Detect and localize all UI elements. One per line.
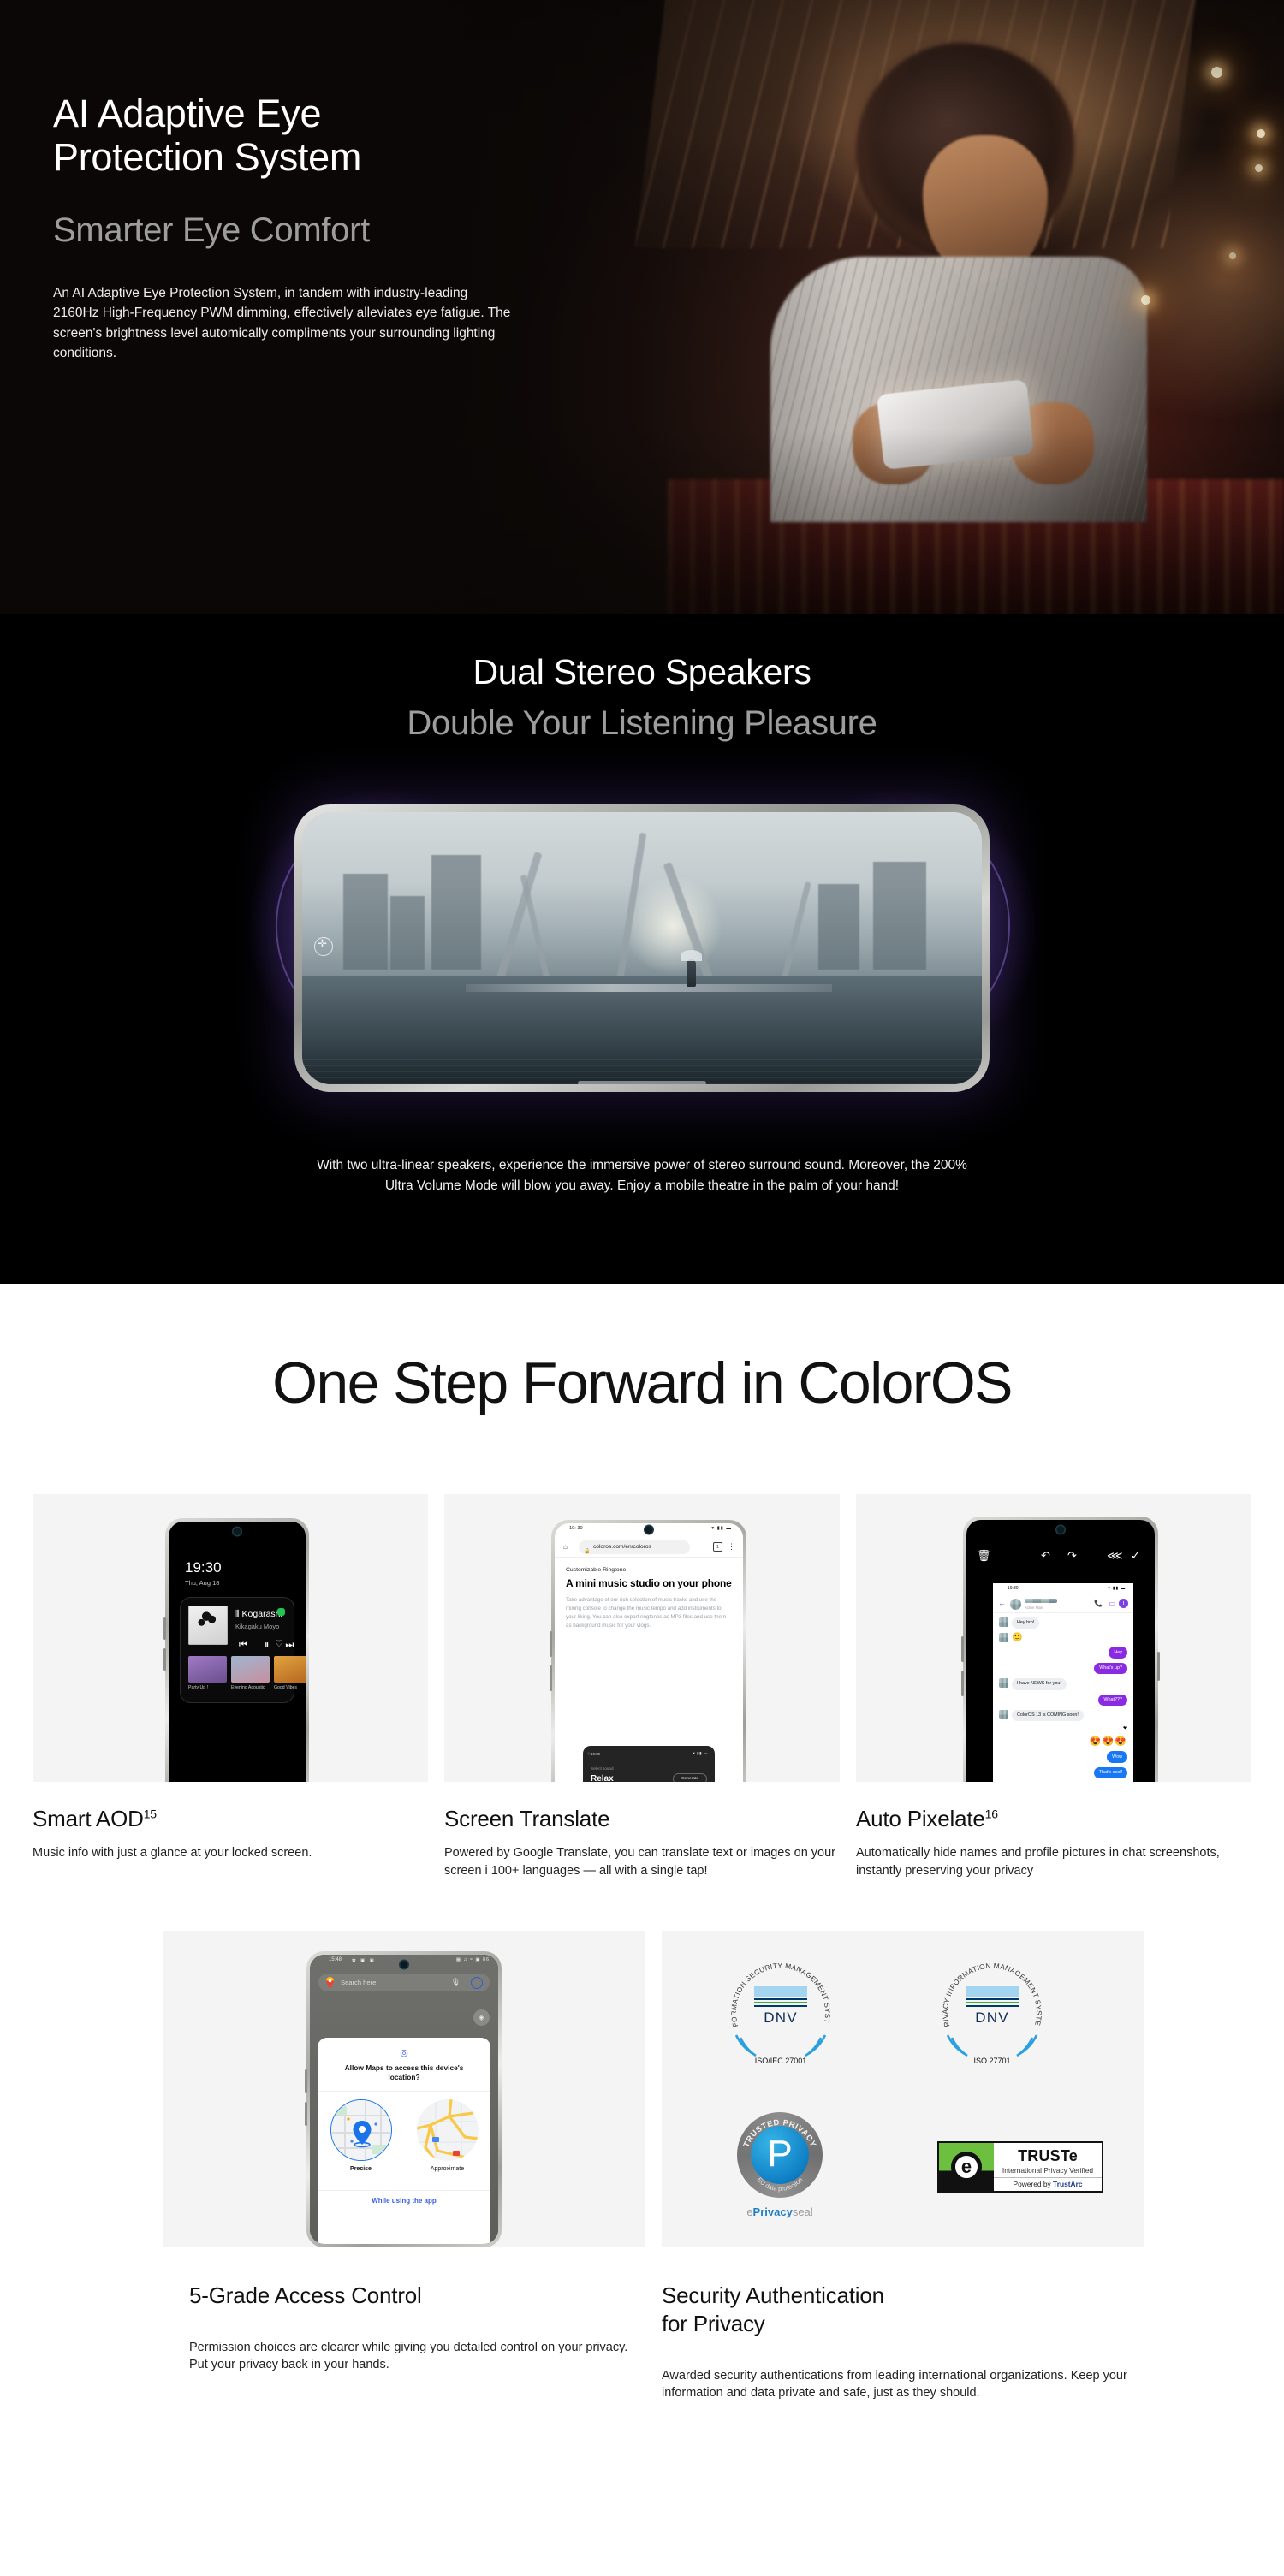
pixelated-contact-name	[1025, 1599, 1057, 1603]
status-time: 19: 30	[569, 1526, 583, 1531]
powered-brand: TrustArc	[1053, 2180, 1082, 2188]
option-label: Precise	[329, 2166, 394, 2172]
aod-date: Thu, Aug 18	[185, 1579, 219, 1587]
pause-icon[interactable]: ⏸	[264, 1638, 270, 1652]
chat-row: Wow	[999, 1751, 1127, 1762]
playlist-label: Party Up !	[188, 1685, 227, 1691]
permission-dialog: ◎ Allow Maps to access this device's loc…	[318, 2038, 490, 2244]
song-title-text: Kogarashi	[242, 1609, 282, 1619]
access-control-screenshot: 15:48 ✿ ▣ ▣ ▦ ♫ ≈ ▣ 86 Search h	[163, 1931, 645, 2247]
avatar	[999, 1633, 1008, 1642]
permission-option-approximate[interactable]: Approximate	[415, 2099, 480, 2172]
playlist-label: Evening Acoustic	[231, 1685, 270, 1691]
feature-card-auto-pixelate: 🗑 ↶ ↷ ⋘ ✓ 19:30 ▾ ▮▮ ▬	[856, 1494, 1251, 1879]
account-avatar-icon[interactable]	[471, 1977, 483, 1989]
chat-bubble: Wow	[1107, 1751, 1127, 1762]
permission-dialog-title: Allow Maps to access this device's locat…	[333, 2063, 475, 2082]
lock-icon: 🔒	[584, 1545, 590, 1558]
dnv-logo: DNV	[754, 1986, 807, 2027]
truste-e-icon: e	[951, 2152, 982, 2182]
url-text: coloros.com/en/coloros	[593, 1544, 651, 1550]
truste-badge-graphic: e TRUSTe International Privacy Verified …	[937, 2141, 1103, 2193]
eye-protection-body: An AI Adaptive Eye Protection System, in…	[53, 283, 515, 364]
seal-letter: P	[751, 2135, 809, 2173]
chat-bubble: What's up?	[1094, 1663, 1127, 1674]
powered-prefix: Powered by	[1013, 2180, 1053, 2188]
eye-protection-subheading: Smarter Eye Comfort	[53, 211, 584, 249]
home-indicator	[578, 1081, 706, 1084]
dnv-logo: DNV	[966, 1986, 1019, 2027]
playlist-thumbnail	[231, 1656, 270, 1683]
inner-status-icons: ▾ ▮▮ ▬	[693, 1751, 708, 1756]
iso-standard-label: ISO/IEC 27001	[755, 2057, 807, 2065]
chat-bubble: ColorOS 13 is COMING soon!	[1012, 1710, 1084, 1721]
song-title: ⦀ Kogarashi	[235, 1609, 282, 1620]
game-platform	[466, 984, 833, 992]
badge-eprivacyseal: TRUSTED PRIVACY EU data protection P	[737, 2112, 823, 2218]
stereo-speakers-section: Dual Stereo Speakers Double Your Listeni…	[0, 614, 1284, 1284]
phone-frame: 19: 30 ▾ ▮▮ ▬ ⌂ 🔒 coloros.com/en/coloros	[551, 1520, 746, 1782]
web-page-content: Customizable Ringtone A mini music studi…	[555, 1558, 743, 1782]
chat-message-list: Hey bro! 🙂 Hey What's up? I have NEWS fo…	[993, 1613, 1133, 1782]
game-water	[302, 976, 982, 1084]
label-prefix: e	[746, 2205, 752, 2218]
footnote-marker: 15	[144, 1807, 157, 1820]
speakers-subheading: Double Your Listening Pleasure	[0, 704, 1284, 743]
eye-protection-copy: AI Adaptive Eye Protection System Smarte…	[53, 92, 584, 364]
undo-icon[interactable]: ↶	[1041, 1549, 1050, 1563]
security-badges-panel: INFORMATION SECURITY MANAGEMENT SYSTEM	[662, 1931, 1144, 2247]
coloros-section: One Step Forward in ColorOS 19:30 Thu, A…	[0, 1284, 1284, 2411]
favorite-icon[interactable]: ♡	[275, 1638, 283, 1649]
phone-frame: 19:30 Thu, Aug 18 ⦀ Kogarashi Kikagaku M…	[165, 1518, 309, 1782]
chat-row: ❤	[999, 1725, 1127, 1731]
playlist-label: Good Vibes	[274, 1685, 306, 1691]
chat-bubble: Hey bro!	[1012, 1617, 1039, 1629]
playlist-item[interactable]: Good Vibes	[274, 1656, 306, 1691]
card-title: Smart AOD15	[33, 1806, 428, 1832]
chat-emoji: 😍😍😍	[1090, 1736, 1127, 1747]
chat-row: Hey	[999, 1647, 1127, 1658]
select-sound-label: Select sound :	[591, 1766, 615, 1771]
playback-controls[interactable]: ⏮ ⏸ ⏭	[239, 1638, 294, 1652]
playlist-thumbnail	[188, 1656, 227, 1683]
power-button[interactable]	[305, 2102, 307, 2126]
address-bar[interactable]: 🔒 coloros.com/en/coloros	[579, 1540, 690, 1554]
avatar	[1010, 1599, 1021, 1610]
map-search-bar[interactable]: Search here 🎙	[318, 1974, 490, 1991]
screen-translate-screenshot: 19: 30 ▾ ▮▮ ▬ ⌂ 🔒 coloros.com/en/coloros	[444, 1494, 840, 1782]
chat-status-bar: 19:30 ▾ ▮▮ ▬	[993, 1583, 1133, 1594]
card-title: Screen Translate	[444, 1806, 840, 1832]
label-suffix: seal	[793, 2205, 813, 2218]
chat-bubble: That's cool!	[1094, 1767, 1127, 1778]
previous-track-icon[interactable]: ⏮	[239, 1640, 247, 1651]
truste-powered-by: Powered by TrustArc	[994, 2177, 1102, 2188]
share-icon[interactable]: ⋘	[1107, 1549, 1123, 1563]
inner-status-time: 19:30	[591, 1752, 600, 1756]
speakers-body: With two ultra-linear speakers, experien…	[308, 1155, 976, 1196]
album-art	[188, 1606, 228, 1645]
volume-button[interactable]	[550, 1631, 552, 1657]
avatar	[999, 1617, 1008, 1627]
dnv-bars-icon	[754, 1986, 807, 2007]
chat-row: 😍😍😍	[999, 1736, 1127, 1747]
chat-row: I have NEWS for you!	[999, 1678, 1127, 1689]
chat-screenshot: 19:30 ▾ ▮▮ ▬ ← Active Now 📞 ▭	[993, 1583, 1133, 1782]
search-placeholder: Search here	[341, 1979, 376, 1986]
chat-header: ← Active Now 📞 ▭ i	[993, 1594, 1133, 1613]
game-building	[818, 884, 859, 970]
volume-button[interactable]	[163, 1617, 166, 1640]
power-button[interactable]	[1157, 1652, 1160, 1681]
truste-title: TRUSTe	[994, 2147, 1102, 2165]
playlist-thumbnail	[274, 1656, 306, 1683]
avatar	[999, 1678, 1008, 1688]
video-call-icon[interactable]: ▭	[1109, 1600, 1115, 1607]
landscape-phone-mockup	[294, 804, 990, 1092]
phone-screen: 19: 30 ▾ ▮▮ ▬ ⌂ 🔒 coloros.com/en/coloros	[555, 1523, 743, 1782]
page-headline: A mini music studio on your phone	[566, 1577, 732, 1589]
confirm-icon[interactable]: ✓	[1131, 1549, 1140, 1563]
feature-card-smart-aod: 19:30 Thu, Aug 18 ⦀ Kogarashi Kikagaku M…	[33, 1494, 428, 1879]
phone-screen: 19:30 Thu, Aug 18 ⦀ Kogarashi Kikagaku M…	[169, 1522, 306, 1782]
while-using-app-button[interactable]: While using the app	[318, 2197, 490, 2205]
status-bar: 19: 30 ▾ ▮▮ ▬	[555, 1523, 743, 1537]
browser-toolbar: ⌂ 🔒 coloros.com/en/coloros 1 ⋮	[555, 1537, 743, 1558]
status-right-icons: ▦ ♫ ≈ ▣ 86	[456, 1957, 490, 1962]
card-description: Permission choices are clearer while giv…	[163, 2339, 645, 2374]
camera-punch-hole-icon	[234, 1528, 241, 1535]
selected-sound-value: Relax	[591, 1774, 614, 1782]
card-description: Automatically hide names and profile pic…	[856, 1844, 1251, 1879]
badge-dnv-iso27701: PRIVACY INFORMATION MANAGEMENT SYSTEM	[936, 1958, 1049, 2071]
eprivacy-label: ePrivacyseal	[737, 2205, 823, 2218]
card-title-text: Auto Pixelate	[856, 1806, 985, 1831]
location-pin-icon: ◎	[400, 2047, 408, 2058]
redo-icon[interactable]: ↷	[1067, 1549, 1077, 1563]
phone-screen: 🗑 ↶ ↷ ⋘ ✓ 19:30 ▾ ▮▮ ▬	[966, 1520, 1155, 1782]
active-status: Active Now	[1025, 1606, 1043, 1610]
card-title-text: Screen Translate	[444, 1806, 609, 1831]
volume-button[interactable]	[961, 1636, 964, 1662]
footnote-marker: 16	[985, 1807, 998, 1820]
generate-button[interactable]: Generate	[673, 1773, 707, 1782]
volume-button[interactable]	[305, 2069, 307, 2093]
aod-clock: 19:30	[185, 1559, 222, 1576]
info-icon[interactable]: i	[1119, 1599, 1128, 1608]
volume-down-button[interactable]	[961, 1671, 964, 1696]
camera-punch-hole-icon	[1057, 1526, 1065, 1534]
game-screen	[302, 812, 982, 1084]
coloros-card-row-2: 15:48 ✿ ▣ ▣ ▦ ♫ ≈ ▣ 86 Search h	[0, 1879, 1284, 2402]
phone-frame: 15:48 ✿ ▣ ▣ ▦ ♫ ≈ ▣ 86 Search h	[306, 1951, 502, 2247]
option-label: Approximate	[415, 2166, 480, 2172]
equalizer-icon: ⦀	[235, 1609, 240, 1619]
truste-subtitle: International Privacy Verified	[994, 2166, 1102, 2175]
card-title: Security Authentication for Privacy	[662, 2282, 1144, 2338]
permission-option-precise[interactable]: Precise	[329, 2099, 394, 2172]
eprivacy-seal-graphic: TRUSTED PRIVACY EU data protection P	[737, 2112, 823, 2198]
approximate-map-thumbnail	[417, 2099, 479, 2161]
game-character	[687, 959, 696, 987]
speakers-heading: Dual Stereo Speakers	[0, 614, 1284, 692]
card-description: Powered by Google Translate, you can tra…	[444, 1844, 840, 1879]
playlist-strip: Party Up ! Evening Acoustic Good Vibes	[188, 1656, 286, 1691]
auto-pixelate-screenshot: 🗑 ↶ ↷ ⋘ ✓ 19:30 ▾ ▮▮ ▬	[856, 1494, 1251, 1782]
card-description: Music info with just a glance at your lo…	[33, 1844, 428, 1862]
speakers-stage	[0, 767, 1284, 1126]
page-kicker: Customizable Ringtone	[566, 1567, 732, 1573]
now-playing-indicator-icon	[277, 1608, 285, 1616]
power-button[interactable]	[163, 1648, 166, 1671]
chat-emoji: 🙂	[1012, 1633, 1022, 1642]
eye-protection-heading: AI Adaptive Eye Protection System	[53, 92, 584, 180]
product-landing-page: AI Adaptive Eye Protection System Smarte…	[0, 0, 1284, 2576]
eye-protection-section: AI Adaptive Eye Protection System Smarte…	[0, 0, 1284, 614]
feature-card-screen-translate: 19: 30 ▾ ▮▮ ▬ ⌂ 🔒 coloros.com/en/coloros	[444, 1494, 840, 1879]
game-building	[873, 862, 926, 970]
label-brand: Privacy	[753, 2205, 793, 2218]
phone-frame: 🗑 ↶ ↷ ⋘ ✓ 19:30 ▾ ▮▮ ▬	[963, 1517, 1158, 1782]
inline-phone-preview: 19:30 ▾ ▮▮ ▬ Select sound : Relax Genera…	[583, 1746, 715, 1782]
badge-dnv-iso27001: INFORMATION SECURITY MANAGEMENT SYSTEM	[724, 1958, 837, 2071]
seal-inner-disc: P	[751, 2126, 809, 2184]
microphone-icon[interactable]: 🎙	[451, 1978, 461, 1987]
dnv-brand: DNV	[966, 2009, 1019, 2027]
card-title: 5-Grade Access Control	[163, 2282, 645, 2310]
chat-bubble: What???	[1098, 1695, 1127, 1706]
call-icon[interactable]: 📞	[1094, 1600, 1103, 1607]
divider	[318, 2190, 490, 2191]
page-paragraph: Take advantage of our rich selection of …	[566, 1596, 732, 1630]
chat-row: Hey bro!	[999, 1617, 1127, 1629]
card-description: Awarded security authentications from le…	[662, 2367, 1144, 2402]
card-title: Auto Pixelate16	[856, 1806, 1251, 1832]
status-bar: 15:48 ✿ ▣ ▣ ▦ ♫ ≈ ▣ 86	[310, 1955, 498, 1968]
coloros-title: One Step Forward in ColorOS	[0, 1284, 1284, 1412]
playlist-item[interactable]: Evening Acoustic	[231, 1656, 270, 1691]
game-building	[343, 874, 388, 970]
back-icon[interactable]: ←	[998, 1599, 1006, 1607]
next-track-icon[interactable]: ⏭	[285, 1640, 294, 1651]
chat-row: 🙂	[999, 1633, 1127, 1642]
iso-standard-label: ISO 27701	[973, 2057, 1010, 2065]
playlist-item[interactable]: Party Up !	[188, 1656, 227, 1691]
chat-row: What???	[999, 1695, 1127, 1706]
artist-name: Kikagaku Moyo	[235, 1623, 279, 1630]
avatar	[999, 1710, 1008, 1719]
editor-toolbar: 🗑 ↶ ↷ ⋘ ✓	[966, 1549, 1155, 1571]
aod-music-widget[interactable]: ⦀ Kogarashi Kikagaku Moyo ⏮ ⏸ ⏭ ♡	[180, 1597, 294, 1703]
home-icon[interactable]: ⌂	[563, 1543, 568, 1551]
chat-row: What's up?	[999, 1663, 1127, 1674]
status-icons: ▾ ▮▮ ▬	[711, 1526, 732, 1531]
overflow-menu-icon[interactable]: ⋮	[728, 1542, 735, 1551]
dnv-brand: DNV	[754, 2009, 807, 2027]
phone-screen: 15:48 ✿ ▣ ▣ ▦ ♫ ≈ ▣ 86 Search h	[310, 1955, 498, 2244]
chat-bubble: Hey	[1109, 1647, 1127, 1658]
camera-punch-hole-icon	[645, 1526, 653, 1534]
chat-status-icons: ▾ ▮▮ ▬	[1108, 1586, 1126, 1591]
chat-row: That's cool!	[999, 1767, 1127, 1778]
precise-map-thumbnail	[330, 2099, 392, 2161]
chat-bubble: I have NEWS for you!	[1012, 1678, 1067, 1689]
feature-card-access-control: 15:48 ✿ ▣ ▣ ▦ ♫ ≈ ▣ 86 Search h	[163, 1931, 645, 2402]
permission-options: Precise	[318, 2099, 490, 2172]
delete-icon[interactable]: 🗑	[977, 1549, 991, 1563]
power-button[interactable]	[550, 1665, 552, 1691]
tab-count-icon[interactable]: 1	[713, 1542, 722, 1552]
card-title-text: Smart AOD	[33, 1806, 144, 1831]
game-building	[431, 855, 481, 970]
game-building	[390, 896, 425, 970]
feature-card-security-auth: INFORMATION SECURITY MANAGEMENT SYSTEM	[662, 1931, 1144, 2402]
heart-reaction-icon: ❤	[1123, 1725, 1127, 1731]
divider	[318, 2091, 490, 2092]
status-time: 15:48	[329, 1957, 342, 1962]
dnv-bars-icon	[966, 1986, 1019, 2007]
status-left-icons: ✿ ▣ ▣	[352, 1958, 376, 1963]
chat-status-time: 19:30	[1008, 1586, 1019, 1591]
google-maps-pin-icon	[325, 1977, 335, 1989]
badge-grid: INFORMATION SECURITY MANAGEMENT SYSTEM	[662, 1931, 1144, 2247]
coloros-card-row-1: 19:30 Thu, Aug 18 ⦀ Kogarashi Kikagaku M…	[0, 1412, 1284, 1879]
truste-mark: e	[939, 2143, 994, 2191]
chat-row: ColorOS 13 is COMING soon!	[999, 1710, 1127, 1721]
badge-truste: e TRUSTe International Privacy Verified …	[937, 2141, 1103, 2193]
smart-aod-screenshot: 19:30 Thu, Aug 18 ⦀ Kogarashi Kikagaku M…	[33, 1494, 428, 1782]
truste-text-block: TRUSTe International Privacy Verified Po…	[994, 2143, 1102, 2191]
